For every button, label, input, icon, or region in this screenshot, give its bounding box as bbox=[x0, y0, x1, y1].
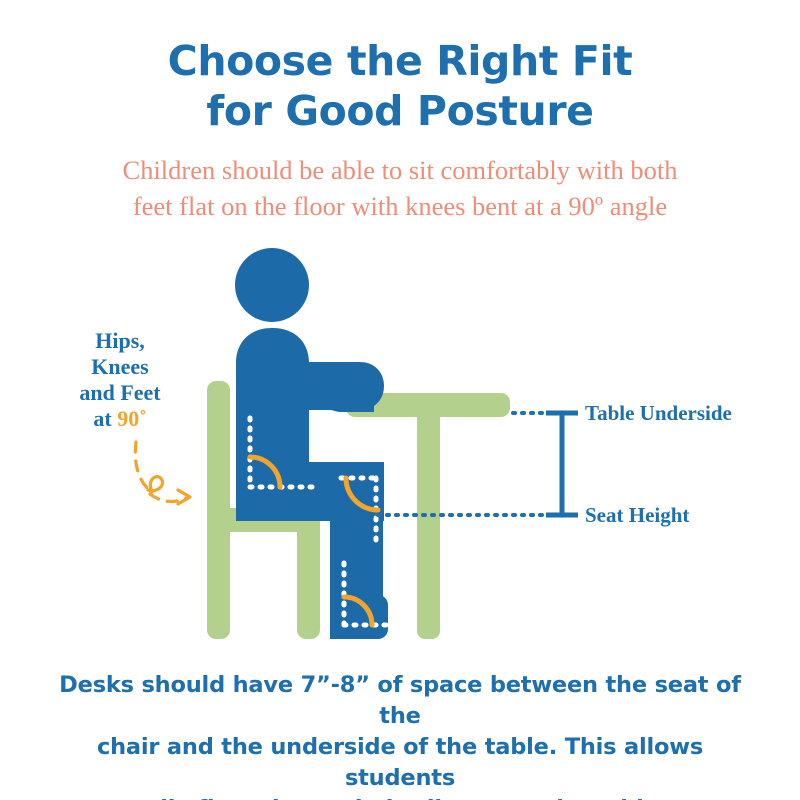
footer-line-2: chair and the underside of the table. Th… bbox=[40, 732, 760, 794]
curved-dashed-arrow-icon bbox=[135, 442, 190, 504]
seat-to-table-dimension bbox=[378, 413, 578, 515]
annotation-line-3: and Feet bbox=[56, 380, 184, 406]
footer-line-3: to easily fit and rest their elbows on t… bbox=[40, 794, 760, 800]
figure-head bbox=[235, 248, 309, 322]
annotation-line-2: Knees bbox=[56, 354, 184, 380]
callout-seat-height: Seat Height bbox=[585, 505, 689, 526]
footer-description: Desks should have 7”-8” of space between… bbox=[40, 670, 760, 800]
annotation-degrees-value: 90˚ bbox=[117, 406, 146, 431]
annotation-at-prefix: at bbox=[93, 406, 117, 431]
infographic-page: Choose the Right Fit for Good Posture Ch… bbox=[0, 0, 800, 800]
figure-arm bbox=[300, 362, 384, 410]
hips-knees-feet-annotation: Hips, Knees and Feet at 90˚ bbox=[56, 328, 184, 432]
annotation-line-4: at 90˚ bbox=[56, 406, 184, 432]
callout-table-underside: Table Underside bbox=[585, 403, 732, 424]
footer-line-1: Desks should have 7”-8” of space between… bbox=[40, 670, 760, 732]
annotation-line-1: Hips, bbox=[56, 328, 184, 354]
